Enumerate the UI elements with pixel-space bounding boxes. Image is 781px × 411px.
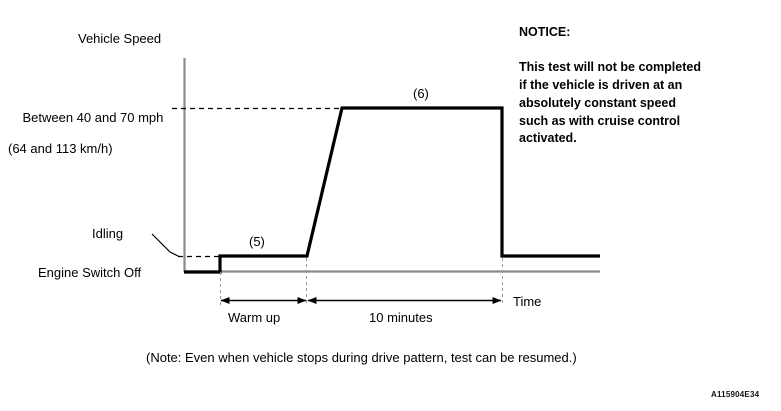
- idling-label: Idling: [92, 226, 123, 241]
- speed-band-label-line1: Between 40 and 70 mph: [22, 110, 163, 125]
- figure-footnote: (Note: Even when vehicle stops during dr…: [146, 350, 577, 365]
- drive-pattern-figure: Vehicle Speed Between 40 and 70 mph (64 …: [0, 0, 781, 411]
- warm-up-dimension-label: Warm up: [228, 310, 280, 325]
- notice-body: This test will not be completed if the v…: [519, 59, 769, 148]
- engine-switch-off-label: Engine Switch Off: [38, 265, 141, 280]
- idling-leader-line: [152, 234, 179, 257]
- callout-cruise-step: (6): [413, 86, 429, 101]
- notice-block: NOTICE: This test will not be completed …: [519, 6, 769, 166]
- time-axis-label: Time: [513, 294, 541, 309]
- speed-band-label: Between 40 and 70 mph (64 and 113 km/h): [8, 95, 163, 187]
- notice-heading: NOTICE:: [519, 24, 769, 42]
- callout-idle-step: (5): [249, 234, 265, 249]
- speed-band-label-line2: (64 and 113 km/h): [8, 141, 163, 156]
- vehicle-speed-axis-title: Vehicle Speed: [78, 31, 161, 46]
- figure-id-code: A115904E34: [711, 390, 759, 399]
- drive-duration-dimension-label: 10 minutes: [369, 310, 433, 325]
